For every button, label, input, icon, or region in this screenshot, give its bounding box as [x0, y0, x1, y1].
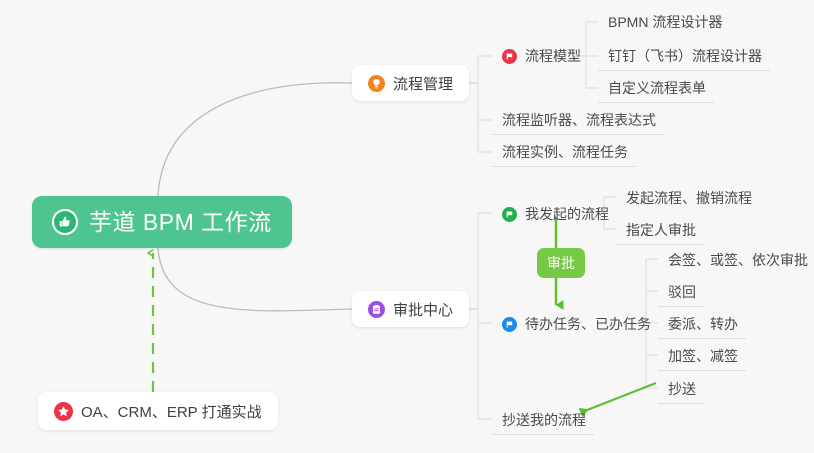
node-reject[interactable]: 驳回: [658, 277, 704, 307]
node-carbon-copy[interactable]: 抄送: [658, 374, 704, 404]
callout-node[interactable]: OA、CRM、ERP 打通实战: [38, 392, 278, 430]
node-cc-my-process[interactable]: 抄送我的流程: [492, 405, 594, 435]
node-label: 发起流程、撤销流程: [626, 188, 752, 208]
node-label: 抄送我的流程: [502, 410, 586, 430]
node-todo-done-task[interactable]: 待办任务、已办任务: [492, 309, 659, 339]
node-assignee-approval[interactable]: 指定人审批: [616, 215, 704, 245]
root-label: 芋道 BPM 工作流: [89, 211, 272, 234]
node-label: 指定人审批: [626, 220, 696, 240]
node-delegate-transfer[interactable]: 委派、转办: [658, 309, 746, 339]
node-start-cancel-process[interactable]: 发起流程、撤销流程: [616, 183, 760, 213]
node-label: 驳回: [668, 282, 696, 302]
node-label: BPMN 流程设计器: [608, 12, 722, 32]
node-label: 待办任务、已办任务: [525, 314, 651, 334]
node-label: 委派、转办: [668, 314, 738, 334]
lightbulb-icon: [368, 75, 385, 92]
node-bpmn-designer[interactable]: BPMN 流程设计器: [598, 7, 730, 37]
link-root-to-process-management: [158, 83, 352, 196]
annotation-label: 审批: [547, 253, 575, 273]
node-label: 会签、或签、依次审批: [668, 250, 808, 270]
node-label: 流程实例、流程任务: [502, 142, 628, 162]
node-process-instance[interactable]: 流程实例、流程任务: [492, 137, 636, 167]
node-label: 抄送: [668, 379, 696, 399]
branch-label: 审批中心: [393, 299, 453, 320]
flag-icon: [502, 49, 517, 64]
flag-icon: [502, 317, 517, 332]
node-dingtalk-designer[interactable]: 钉钉（飞书）流程设计器: [598, 41, 770, 71]
branch-approval-center[interactable]: 审批中心: [352, 291, 469, 327]
node-label: 钉钉（飞书）流程设计器: [608, 46, 762, 66]
node-custom-form[interactable]: 自定义流程表单: [598, 73, 714, 103]
node-process-model[interactable]: 流程模型: [492, 41, 589, 71]
flag-icon: [502, 207, 517, 222]
star-icon: [54, 402, 73, 421]
node-label: 自定义流程表单: [608, 78, 706, 98]
node-multi-approval[interactable]: 会签、或签、依次审批: [658, 245, 814, 275]
annotation-approval-pill[interactable]: 审批: [537, 248, 585, 278]
branch-process-management[interactable]: 流程管理: [352, 65, 469, 101]
link-root-to-approval-center: [158, 248, 352, 311]
thumbs-up-icon: [52, 209, 78, 235]
branch-label: 流程管理: [393, 73, 453, 94]
node-label: 流程模型: [525, 46, 581, 66]
node-label: 我发起的流程: [525, 204, 609, 224]
node-add-remove-sign[interactable]: 加签、减签: [658, 341, 746, 371]
callout-label: OA、CRM、ERP 打通实战: [81, 401, 262, 422]
node-my-started-process[interactable]: 我发起的流程: [492, 199, 617, 229]
node-label: 加签、减签: [668, 346, 738, 366]
clipboard-icon: [368, 301, 385, 318]
mindmap-canvas: 芋道 BPM 工作流 OA、CRM、ERP 打通实战 流程管理: [0, 0, 814, 453]
node-label: 流程监听器、流程表达式: [502, 110, 656, 130]
node-process-listener[interactable]: 流程监听器、流程表达式: [492, 105, 664, 135]
root-node[interactable]: 芋道 BPM 工作流: [32, 196, 292, 248]
